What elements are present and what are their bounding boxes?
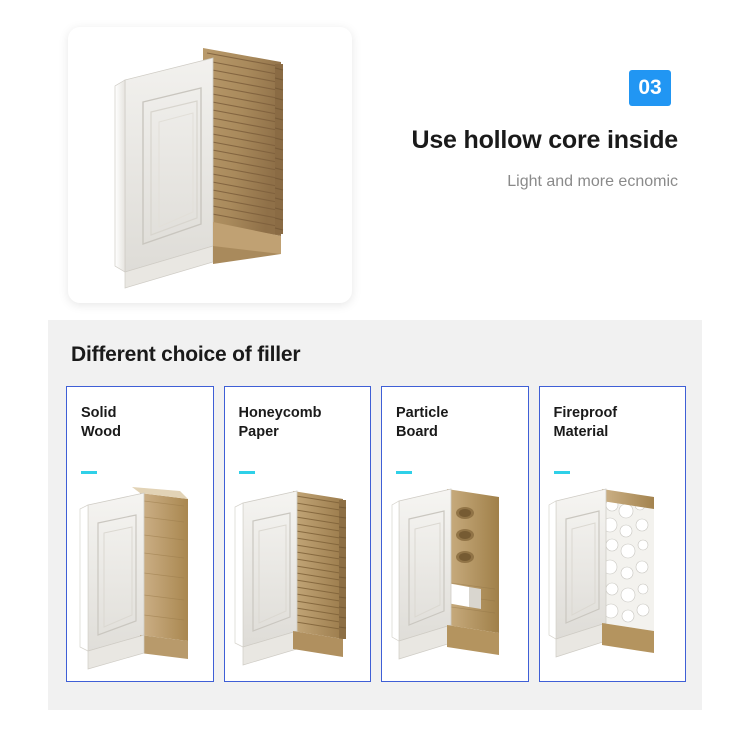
panel-title: Different choice of filler [71,343,300,367]
honeycomb-paper-door-illustration [225,481,371,675]
honeycomb-paper-door-cutaway-icon [227,483,367,673]
filler-card-honeycomb-paper[interactable]: Honeycomb Paper [224,386,372,682]
filler-card-title: Solid Wood [81,404,121,441]
accent-rule [396,471,412,474]
fireproof-material-door-illustration [540,481,686,675]
filler-options-panel: Different choice of filler Solid Wood [48,320,702,710]
filler-card-solid-wood[interactable]: Solid Wood [66,386,214,682]
accent-rule [239,471,255,474]
filler-card-particle-board[interactable]: Particle Board [381,386,529,682]
filler-card-title: Fireproof Material [554,404,618,441]
accent-rule [81,471,97,474]
hero-headline: Use hollow core inside [412,126,679,155]
particle-board-door-cutaway-icon [385,483,525,673]
filler-card-list: Solid Wood [66,386,686,682]
solid-wood-door-illustration [67,481,213,675]
fireproof-material-door-cutaway-icon [542,483,682,673]
filler-card-title: Honeycomb Paper [239,404,322,441]
hollow-core-door-cutaway-icon [85,40,335,290]
hero-subheadline: Light and more ecnomic [507,173,678,191]
step-badge: 03 [629,70,671,106]
accent-rule [554,471,570,474]
filler-card-title: Particle Board [396,404,448,441]
solid-wood-door-cutaway-icon [70,483,210,673]
particle-board-door-illustration [382,481,528,675]
hero-door-illustration [68,27,352,303]
filler-card-fireproof-material[interactable]: Fireproof Material [539,386,687,682]
hero-image-card [68,27,352,303]
hero-section: 03 Use hollow core inside Light and more… [0,0,750,318]
